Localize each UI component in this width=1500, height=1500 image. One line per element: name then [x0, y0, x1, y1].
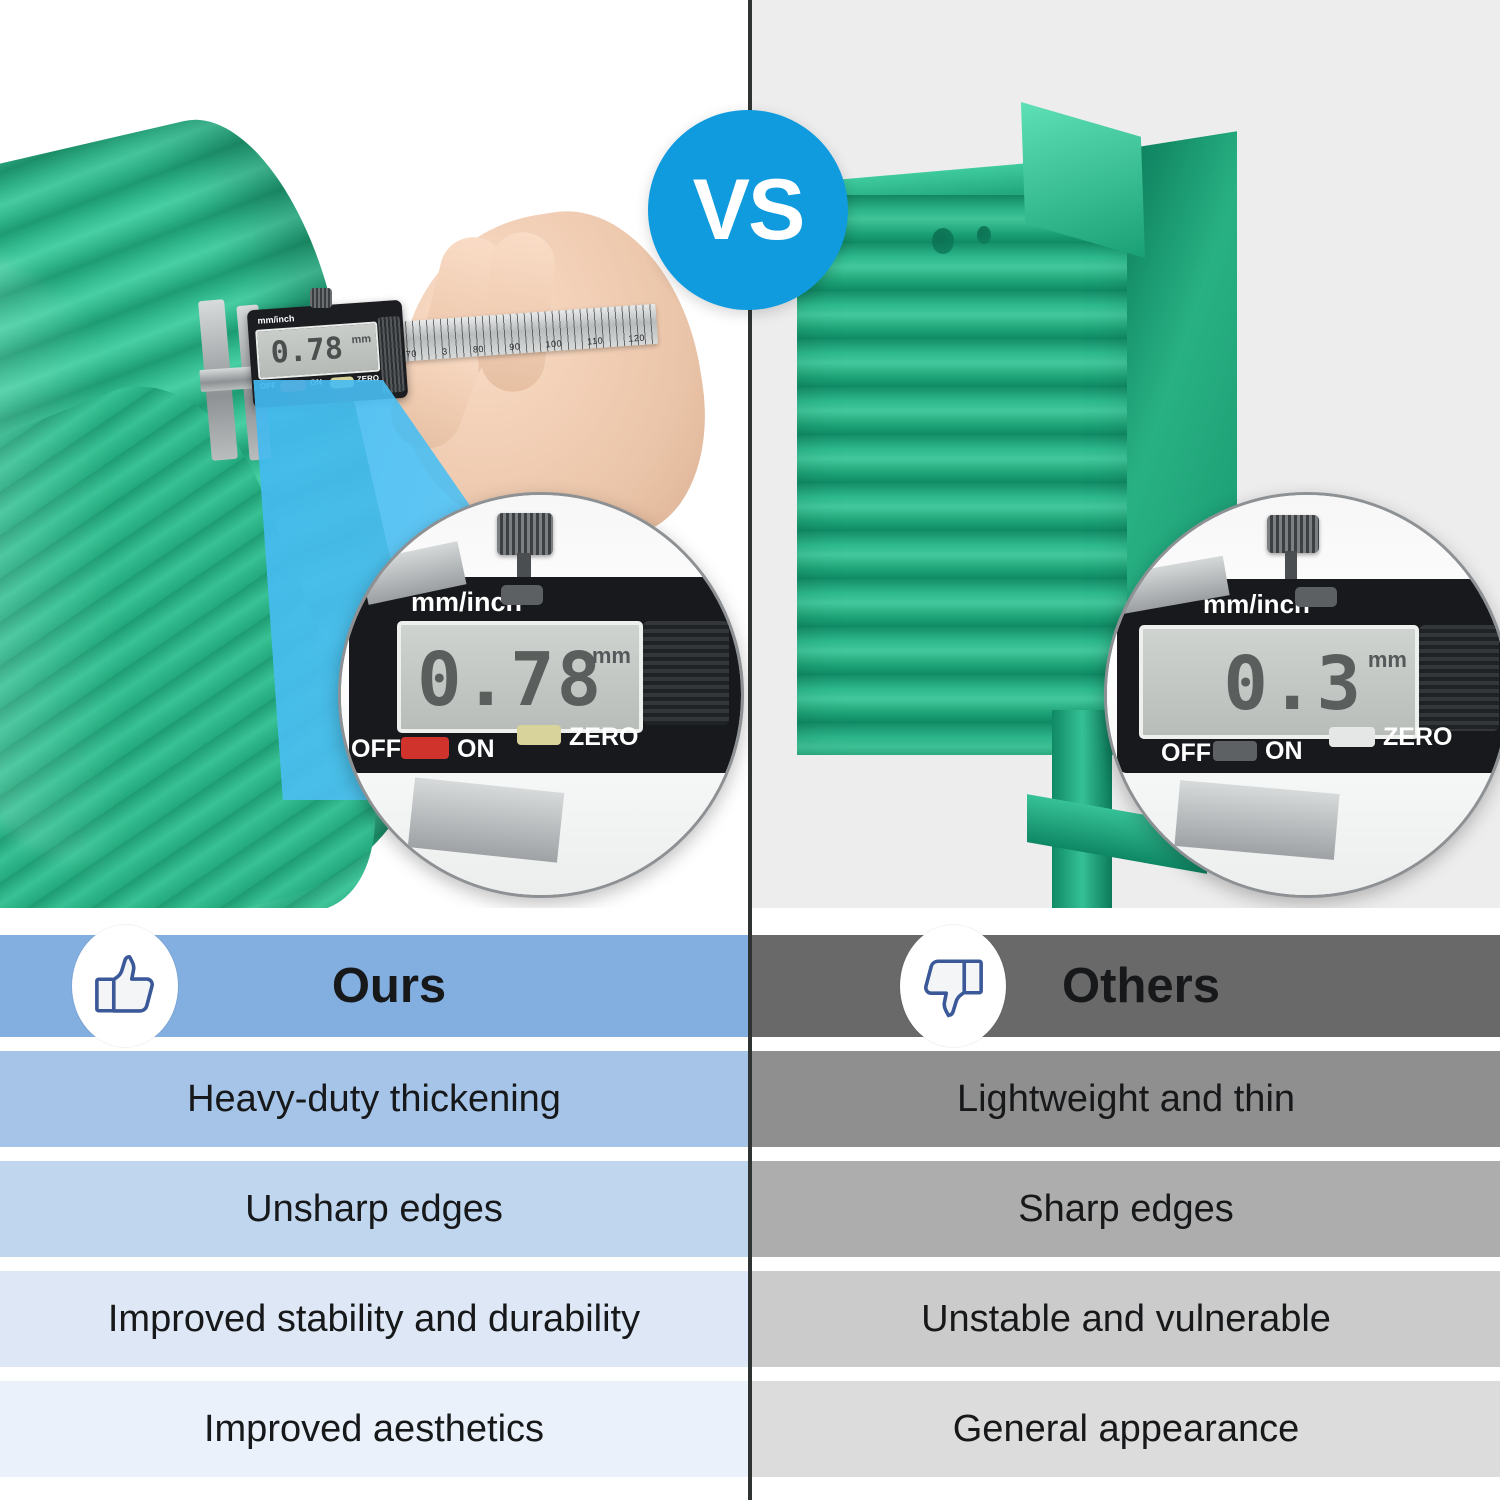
thumbs-up-icon — [89, 950, 161, 1022]
right-product-photo: 70 3 80 90 100 110 120 mm/inch 0.3 — [752, 0, 1500, 908]
magnified-screen: 0.78 mm — [397, 621, 643, 733]
vs-label: VS — [693, 161, 804, 260]
tick-label: 110 — [587, 336, 604, 347]
ours-row-3: Improved stability and durability — [0, 1271, 748, 1367]
magnifier-right: mm/inch 0.3 mm OFF ON ZERO — [1104, 492, 1500, 898]
others-row-1-label: Lightweight and thin — [752, 1078, 1500, 1121]
others-row-4: General appearance — [752, 1381, 1500, 1477]
others-column: Others Lightweight and thin Sharp edges … — [752, 908, 1500, 1500]
magnified-caliper-body: mm/inch 0.78 mm OFF ON ZERO — [349, 577, 741, 773]
ours-row-2-label: Unsharp edges — [0, 1188, 748, 1231]
caliper-screen: 0.78 mm — [255, 321, 380, 379]
others-row-2-label: Sharp edges — [752, 1188, 1500, 1231]
others-header-row: Others — [752, 935, 1500, 1037]
comparison-infographic: 70 3 80 90 100 110 120 mm/inch — [0, 0, 1500, 1500]
others-row-1: Lightweight and thin — [752, 1051, 1500, 1147]
box-rivet — [977, 226, 991, 244]
ours-row-1: Heavy-duty thickening — [0, 1051, 748, 1147]
tick-label: 70 — [406, 349, 418, 360]
caliper-reading: 0.78 — [270, 331, 345, 371]
magnified-power-switch[interactable] — [401, 737, 449, 759]
ours-row-1-label: Heavy-duty thickening — [0, 1078, 748, 1121]
magnifier-content: mm/inch 0.3 mm OFF ON ZERO — [1107, 495, 1500, 895]
magnified-off-label: OFF — [351, 735, 401, 764]
magnified-power-switch[interactable] — [1213, 741, 1257, 761]
mode-button[interactable] — [1295, 587, 1337, 607]
tick-label: 80 — [473, 344, 485, 355]
ours-row-2: Unsharp edges — [0, 1161, 748, 1257]
thumbs-up-badge — [72, 925, 178, 1047]
magnified-off-label: OFF — [1161, 739, 1211, 768]
magnified-reading: 0.78 — [417, 637, 603, 723]
magnified-zero-switch[interactable] — [517, 725, 561, 745]
magnified-unit: mm — [592, 643, 631, 669]
ours-row-4: Improved aesthetics — [0, 1381, 748, 1477]
box-rivet — [932, 228, 954, 254]
magnified-on-label: ON — [1265, 737, 1303, 766]
box-front-panel — [797, 195, 1127, 755]
mode-button[interactable] — [501, 585, 543, 605]
caliper-mode-label: mm/inch — [257, 313, 295, 326]
tick-label: 90 — [509, 341, 521, 352]
ours-column: Ours Heavy-duty thickening Unsharp edges… — [0, 908, 748, 1500]
magnified-zero-label: ZERO — [1383, 723, 1452, 752]
tick-label: 100 — [545, 338, 562, 349]
magnified-grip — [643, 621, 729, 725]
magnified-zero-label: ZERO — [569, 723, 638, 752]
others-row-2: Sharp edges — [752, 1161, 1500, 1257]
others-title: Others — [752, 958, 1500, 1014]
magnified-reading: 0.3 — [1223, 641, 1363, 727]
magnified-caliper-body: mm/inch 0.3 mm OFF ON ZERO — [1117, 579, 1500, 773]
magnified-on-label: ON — [457, 735, 495, 764]
magnified-jaw-lower — [1174, 780, 1339, 860]
magnifier-left: mm/inch 0.78 mm OFF ON ZERO — [338, 492, 744, 898]
ours-header-row: Ours — [0, 935, 748, 1037]
caliper-unit: mm — [351, 333, 371, 346]
ours-row-3-label: Improved stability and durability — [0, 1298, 748, 1341]
thumbwheel-stem — [1285, 551, 1297, 581]
magnified-unit: mm — [1368, 647, 1407, 673]
magnified-jaw-lower — [408, 777, 564, 862]
magnified-thumbwheel — [497, 513, 553, 555]
magnifier-content: mm/inch 0.78 mm OFF ON ZERO — [341, 495, 741, 895]
tick-label: 3 — [442, 346, 448, 356]
others-row-3: Unstable and vulnerable — [752, 1271, 1500, 1367]
thumbs-down-badge — [900, 925, 1006, 1047]
magnified-zero-switch[interactable] — [1329, 727, 1375, 747]
others-row-3-label: Unstable and vulnerable — [752, 1298, 1500, 1341]
magnified-grip — [1419, 625, 1499, 731]
others-row-4-label: General appearance — [752, 1408, 1500, 1451]
tick-label: 120 — [628, 333, 645, 344]
thumbs-down-icon — [917, 950, 989, 1022]
vs-badge: VS — [648, 110, 848, 310]
magnified-thumbwheel — [1267, 515, 1319, 553]
left-product-photo: 70 3 80 90 100 110 120 mm/inch — [0, 0, 748, 908]
magnified-screen: 0.3 mm — [1139, 625, 1419, 739]
ours-row-4-label: Improved aesthetics — [0, 1408, 748, 1451]
caliper-thumbwheel — [310, 288, 332, 308]
